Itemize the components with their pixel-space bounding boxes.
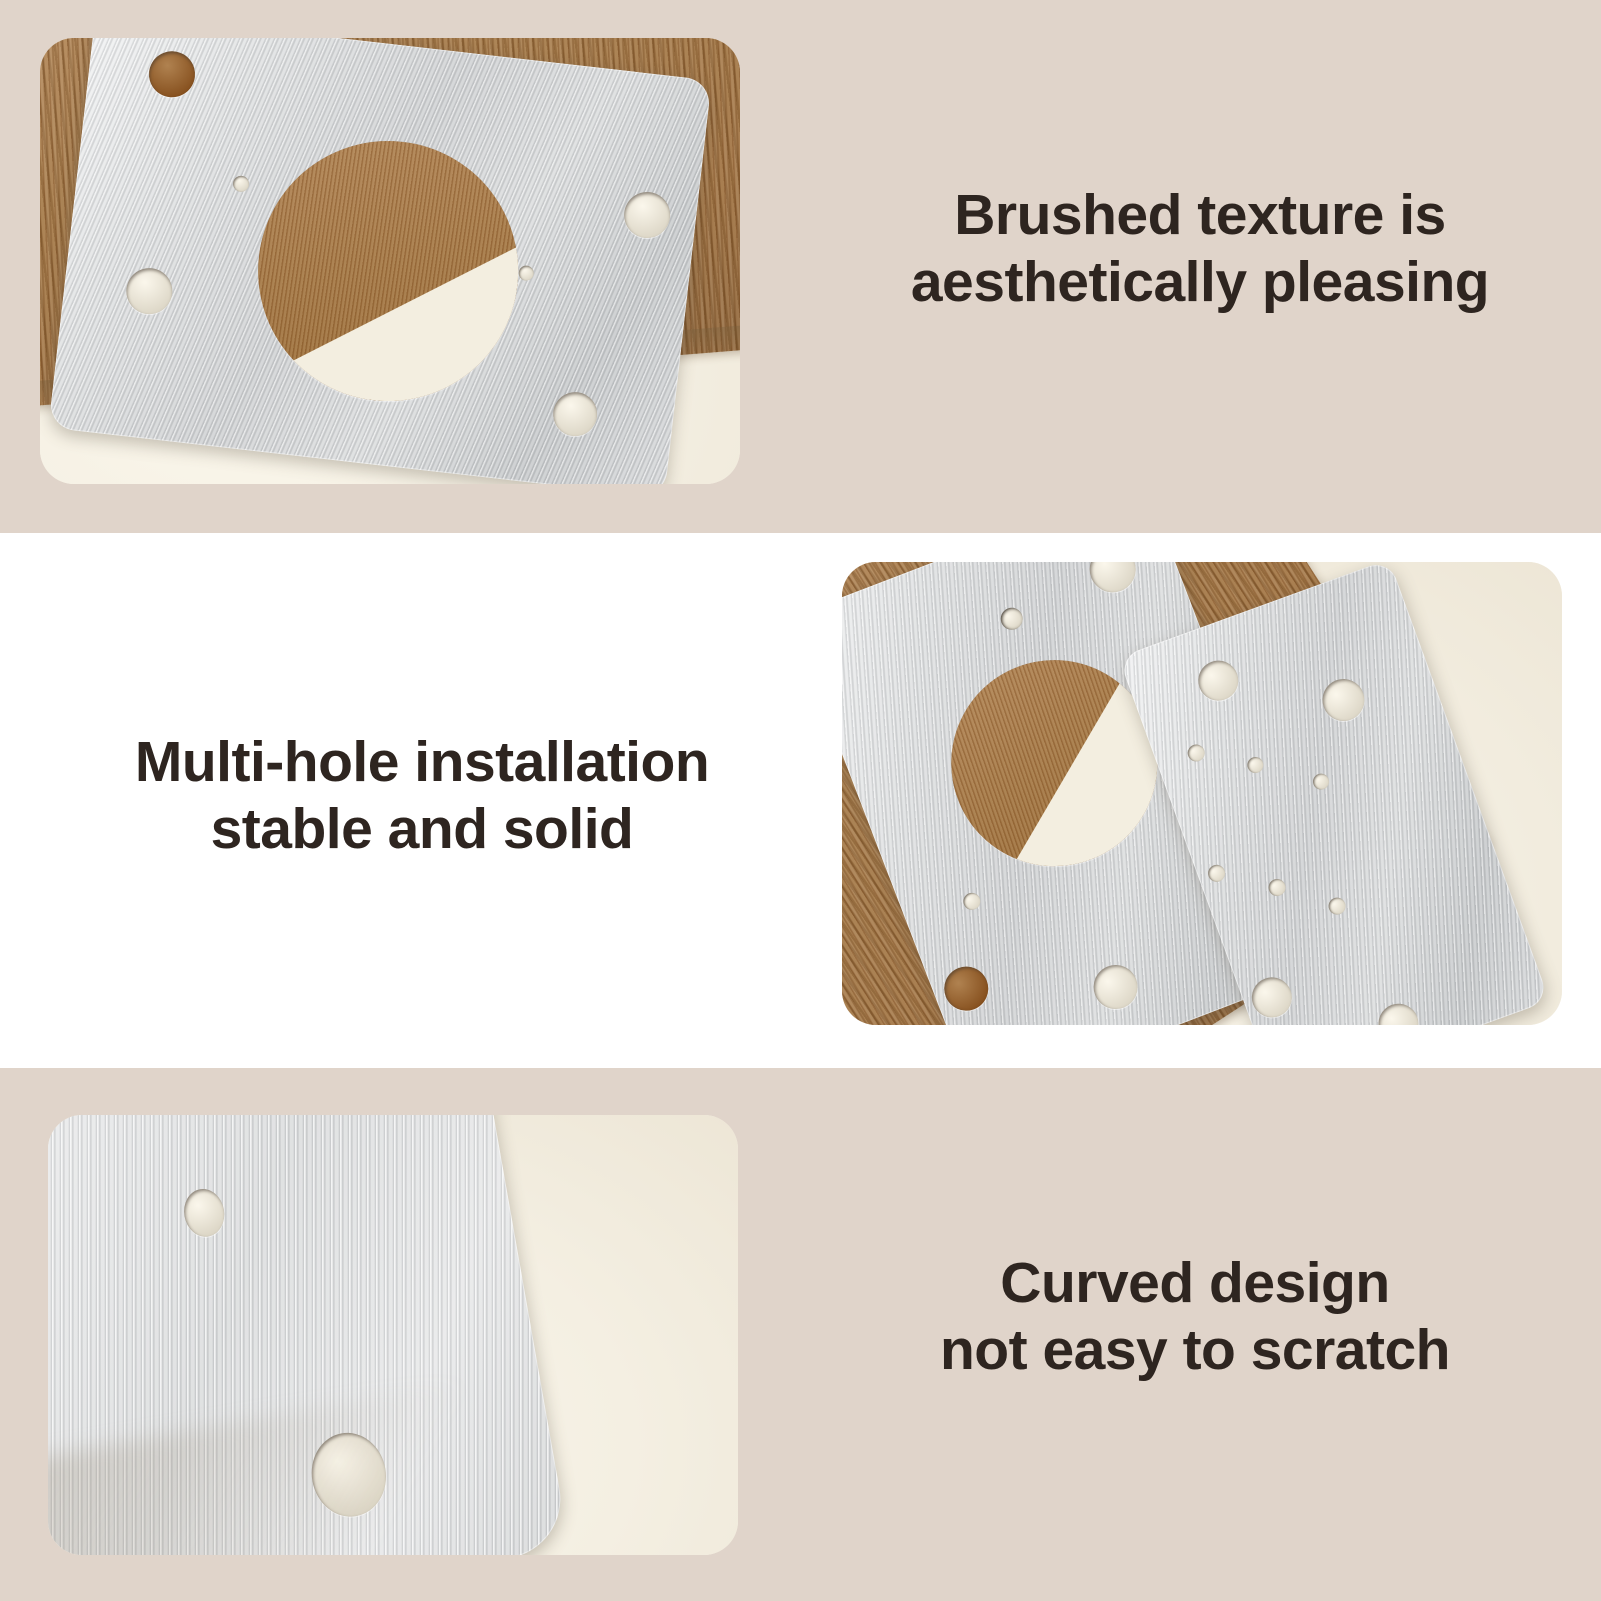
panel-multi-hole: Multi-hole installation stable and solid bbox=[0, 533, 1601, 1068]
mounting-hole-top-right bbox=[622, 190, 673, 241]
panel-2-caption: Multi-hole installation stable and solid bbox=[62, 729, 782, 864]
mounting-hole-bottom-left bbox=[124, 266, 175, 317]
mounting-hole-top-left bbox=[147, 49, 198, 100]
panel-3-caption: Curved design not easy to scratch bbox=[830, 1250, 1560, 1385]
photo-two-plates-multiple-holes bbox=[842, 562, 1562, 1025]
pilot-hole-lower bbox=[518, 265, 535, 282]
mounting-hole-bottom-mid bbox=[1087, 959, 1144, 1016]
mounting-hole-bottom-left bbox=[938, 960, 995, 1017]
pilot-hole-d bbox=[1206, 862, 1228, 884]
pilot-hole-upper bbox=[232, 175, 250, 193]
steel-plate bbox=[48, 38, 712, 484]
pilot-hole-b bbox=[1245, 755, 1266, 776]
panel-brushed-texture: Brushed texture is aesthetically pleasin… bbox=[0, 0, 1601, 533]
mounting-hole-top-right bbox=[1083, 562, 1142, 599]
pilot-hole-a bbox=[1185, 742, 1207, 764]
pilot-hole-left bbox=[961, 890, 983, 912]
large-cutout-arc-edge bbox=[156, 1115, 538, 1137]
mounting-hole-upper bbox=[180, 1186, 228, 1240]
mounting-hole-d bbox=[1373, 998, 1424, 1025]
mounting-hole-b bbox=[1317, 673, 1371, 727]
photo-plate-on-wood-board bbox=[40, 38, 740, 484]
infographic-sheet: Brushed texture is aesthetically pleasin… bbox=[0, 0, 1601, 1601]
pilot-hole-c bbox=[1311, 771, 1332, 792]
panel-curved-design: Curved design not easy to scratch bbox=[0, 1068, 1601, 1601]
mounting-hole-c bbox=[1246, 972, 1297, 1023]
pilot-hole-top bbox=[998, 605, 1026, 633]
mounting-hole-a bbox=[1193, 655, 1244, 706]
mounting-hole-bottom-right bbox=[551, 390, 600, 439]
large-round-cutout bbox=[244, 127, 532, 415]
panel-1-caption: Brushed texture is aesthetically pleasin… bbox=[820, 182, 1580, 317]
photo-plate-rounded-corner-closeup bbox=[48, 1115, 738, 1555]
pilot-hole-f bbox=[1326, 895, 1348, 917]
pilot-hole-e bbox=[1266, 877, 1288, 899]
